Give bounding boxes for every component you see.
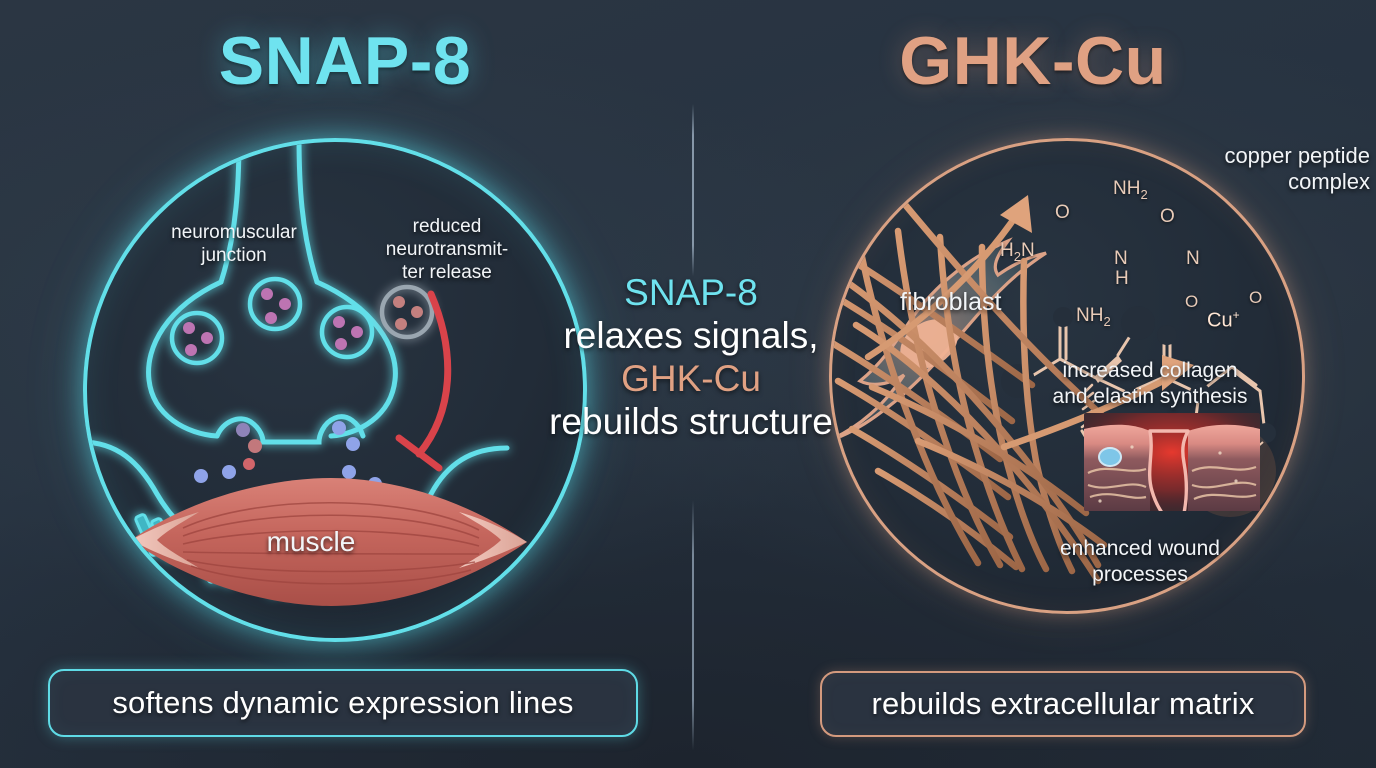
label-reduced-neurotransmitter-release: reduced neurotransmit- ter release	[362, 216, 532, 284]
atom-label-nh2-lower: NH2	[1076, 305, 1111, 329]
atom-label-o-3: O	[1185, 292, 1198, 312]
center-summary-text: SNAP-8 relaxes signals, GHK-Cu rebuilds …	[516, 272, 866, 444]
center-line-relaxes: relaxes signals,	[516, 315, 866, 358]
wound-inset	[1084, 413, 1260, 513]
benefit-pill-ghkcu: rebuilds extracellular matrix	[820, 671, 1306, 737]
label-fibroblast: fibroblast	[900, 287, 1001, 317]
snap8-diagram-circle	[83, 138, 587, 642]
center-line-ghkcu: GHK-Cu	[516, 358, 866, 401]
page-title-right: GHK-Cu	[690, 22, 1376, 100]
vertical-divider-bottom	[692, 500, 694, 750]
page-title-left: SNAP-8	[0, 22, 690, 100]
label-increased-collagen: increased collagen and elastin synthesis	[1030, 358, 1270, 409]
atom-label-nh2-upper: NH2	[1113, 178, 1148, 202]
vertical-divider-top	[692, 104, 694, 276]
atom-label-o-4: O	[1249, 288, 1262, 308]
atom-label-o-2: O	[1160, 206, 1175, 228]
label-muscle: muscle	[196, 525, 426, 559]
label-enhanced-wound: enhanced wound processes	[1030, 536, 1250, 587]
label-copper-peptide-complex: copper peptide complex	[1180, 143, 1370, 196]
atom-label-n-ring: N	[1186, 248, 1200, 270]
center-line-snap8: SNAP-8	[516, 272, 866, 315]
copper-ion-label: Cu+	[1207, 308, 1240, 333]
atom-label-o-1: O	[1055, 202, 1070, 224]
atom-label-n-amide: N	[1114, 248, 1128, 270]
atom-label-h2n: H2N	[1000, 240, 1035, 264]
label-neuromuscular-junction: neuromuscular junction	[144, 222, 324, 268]
atom-label-h-amide: H	[1115, 268, 1129, 290]
inhibition-arrow-icon	[399, 294, 448, 468]
center-line-rebuilds: rebuilds structure	[516, 401, 866, 444]
benefit-pill-snap8: softens dynamic expression lines	[48, 669, 638, 737]
infographic-canvas: SNAP-8 GHK-Cu	[0, 0, 1376, 768]
